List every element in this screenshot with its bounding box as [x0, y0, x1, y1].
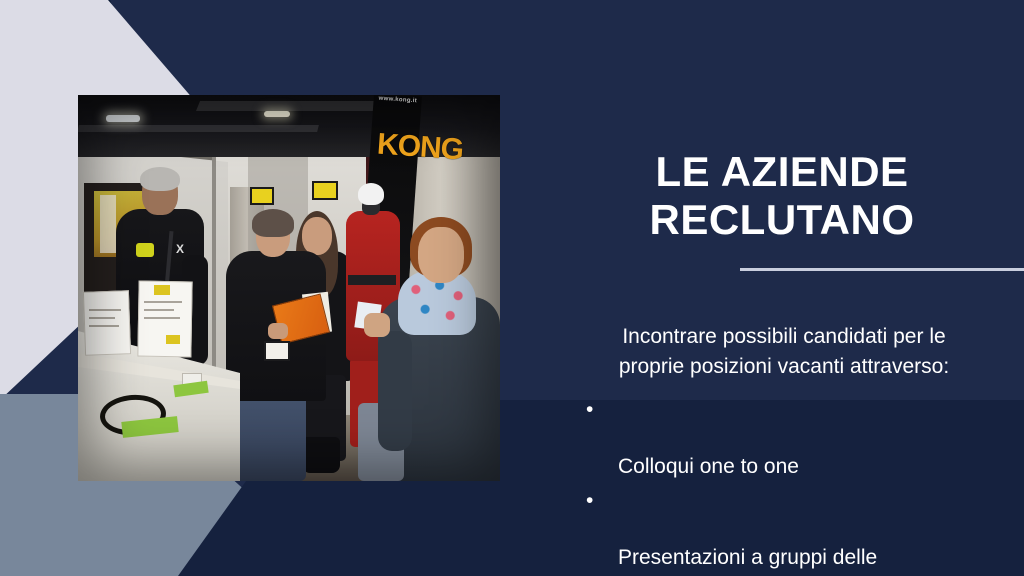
slide-photo: www.kong.it KONG X: [78, 95, 500, 481]
list-item: • Presentazioni a gruppi delle figure pr…: [556, 487, 1012, 576]
photo-vignette: [78, 95, 500, 481]
title-divider: [740, 268, 1024, 271]
presentation-slide: www.kong.it KONG X: [0, 0, 1024, 576]
bullet-marker-icon: •: [586, 396, 593, 425]
title-block: LE AZIENDE RECLUTANO: [556, 148, 1008, 245]
intro-paragraph: Incontrare possibili candidati per le pr…: [556, 322, 1012, 382]
bullet-marker-icon: •: [586, 487, 593, 516]
list-item-label: Colloqui one to one: [618, 455, 799, 478]
bullet-list: • Colloqui one to one • Presentazioni a …: [556, 396, 1012, 576]
list-item-label: Presentazioni a gruppi delle figure prof…: [618, 546, 886, 576]
body-block: Incontrare possibili candidati per le pr…: [556, 322, 1012, 576]
list-item: • Colloqui one to one: [556, 396, 1012, 482]
page-title: LE AZIENDE RECLUTANO: [556, 148, 1008, 245]
